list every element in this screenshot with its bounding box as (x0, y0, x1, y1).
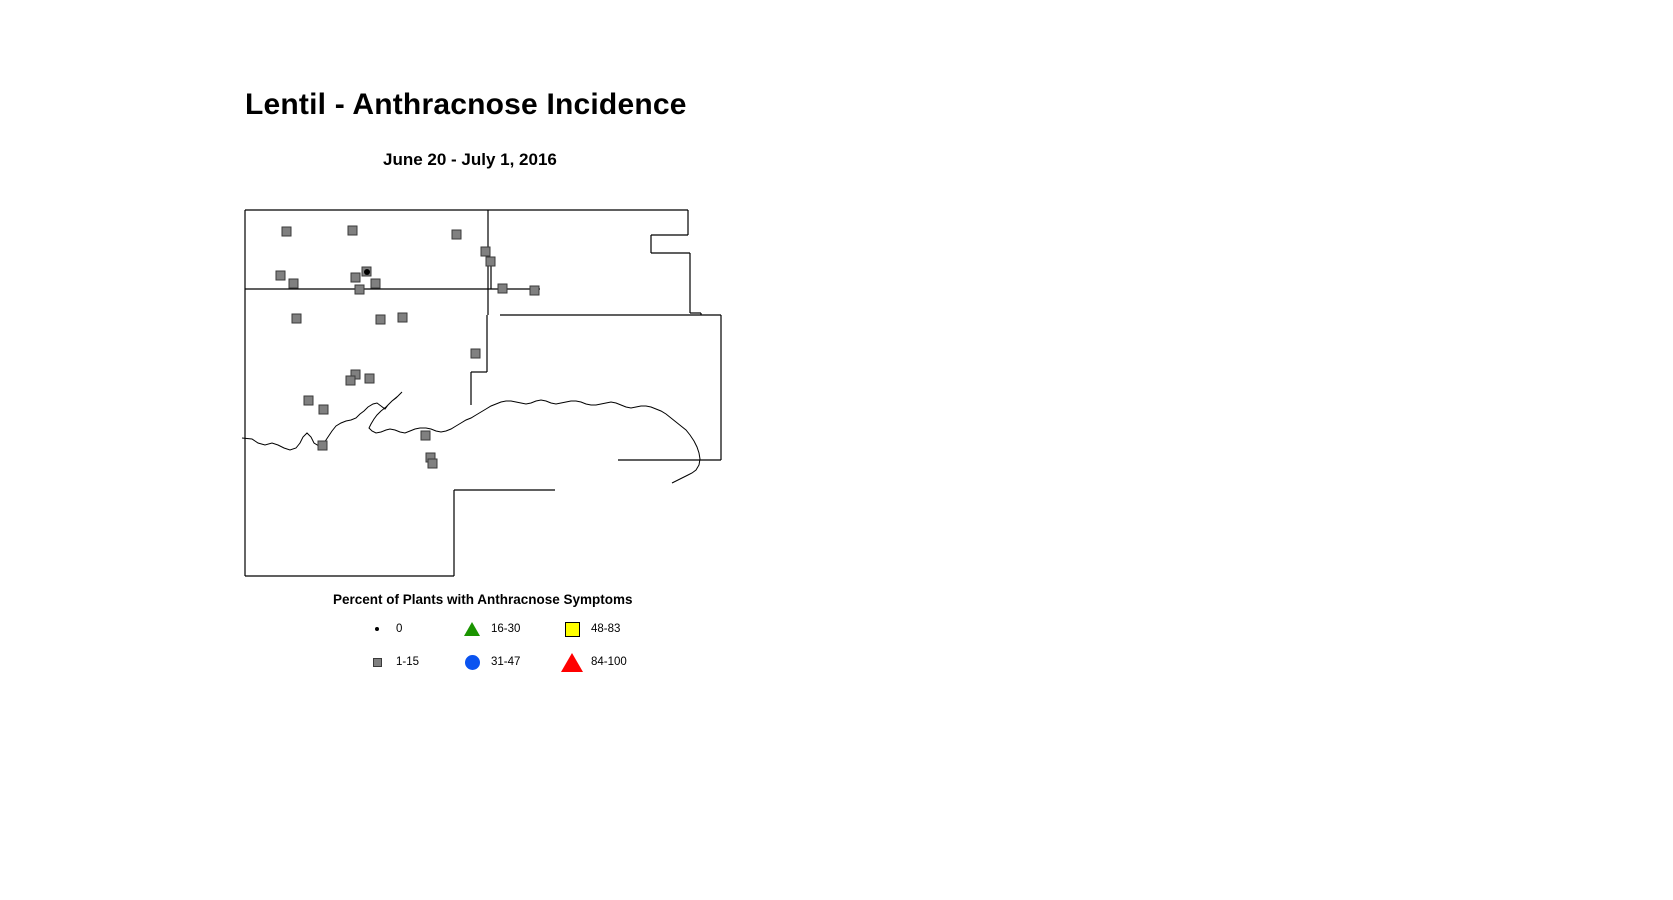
legend-item-label: 0 (396, 623, 402, 635)
triangle-red-icon (561, 652, 583, 672)
legend-item-84-100[interactable]: 84-100 (561, 652, 627, 672)
triangle-green-icon (461, 619, 483, 639)
data-point (346, 376, 355, 385)
data-point (498, 284, 507, 293)
data-point (282, 227, 291, 236)
legend-item-label: 16-30 (491, 623, 520, 635)
legend-item-31-47[interactable]: 31-47 (461, 652, 520, 672)
data-point (292, 314, 301, 323)
data-point (304, 396, 313, 405)
data-point (289, 279, 298, 288)
data-point (371, 279, 380, 288)
data-point (365, 374, 374, 383)
data-point (471, 349, 480, 358)
data-point (530, 286, 539, 295)
legend-title: Percent of Plants with Anthracnose Sympt… (333, 592, 733, 607)
data-point (348, 226, 357, 235)
legend-item-label: 31-47 (491, 656, 520, 668)
data-point (364, 269, 370, 275)
map-figure: Lentil - Anthracnose Incidence June 20 -… (0, 0, 1673, 900)
data-point (421, 431, 430, 440)
square-yellow-icon (561, 619, 583, 639)
data-point (319, 405, 328, 414)
data-point (351, 273, 360, 282)
data-point (318, 441, 327, 450)
square-gray-icon (366, 652, 388, 672)
data-points-0 (364, 269, 370, 275)
data-point (481, 247, 490, 256)
data-point (355, 285, 364, 294)
legend-item-0[interactable]: 0 (366, 619, 402, 639)
data-point (276, 271, 285, 280)
legend-item-48-83[interactable]: 48-83 (561, 619, 620, 639)
data-point (428, 459, 437, 468)
data-point (398, 313, 407, 322)
page-title: Lentil - Anthracnose Incidence (245, 88, 687, 122)
circle-blue-icon (461, 652, 483, 672)
data-point (376, 315, 385, 324)
legend: Percent of Plants with Anthracnose Sympt… (333, 592, 733, 681)
data-point (452, 230, 461, 239)
legend-item-1-15[interactable]: 1-15 (366, 652, 419, 672)
data-point (486, 257, 495, 266)
legend-item-label: 1-15 (396, 656, 419, 668)
legend-item-label: 48-83 (591, 623, 620, 635)
map-canvas (240, 205, 740, 595)
dot-black-icon (366, 619, 388, 639)
legend-item-label: 84-100 (591, 656, 627, 668)
legend-item-16-30[interactable]: 16-30 (461, 619, 520, 639)
page-subtitle: June 20 - July 1, 2016 (383, 150, 557, 170)
legend-grid: 0 1-15 16-30 31-47 48-83 84-100 (333, 619, 693, 681)
